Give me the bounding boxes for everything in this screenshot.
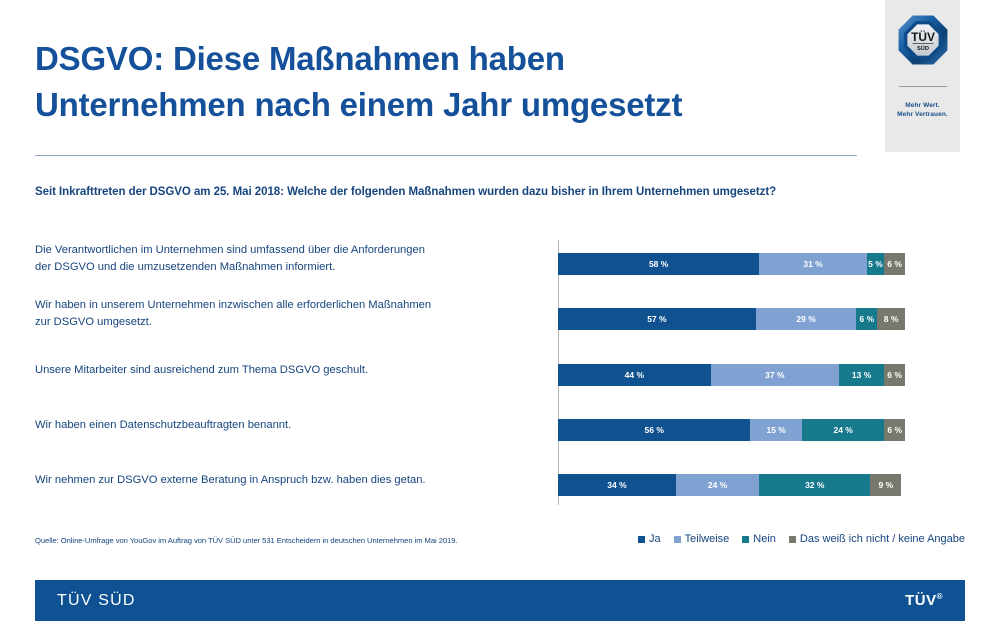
bar-segment-value: 15 % [766,425,785,435]
bar-segment: 15 % [750,419,802,441]
logo-claim-line2: Mehr Vertrauen. [897,110,948,119]
title-divider [35,155,857,156]
stacked-bar: 44 %37 %13 %6 % [558,364,905,386]
chart-legend: JaTeilweiseNeinDas weiß ich nicht / kein… [638,533,965,545]
bar-segment: 31 % [759,253,867,275]
legend-swatch-icon [638,536,645,543]
bar-segment-value: 24 % [833,425,852,435]
bar-segment-value: 6 % [859,314,874,324]
bar-segment-value: 44 % [625,370,644,380]
logo-claim: Mehr Wert. Mehr Vertrauen. [897,101,948,120]
chart-row: Wir haben einen Datenschutzbeauftragten … [35,417,910,463]
legend-item[interactable]: Das weiß ich nicht / keine Angabe [789,533,965,545]
bar-segment-value: 58 % [649,259,668,269]
legend-swatch-icon [789,536,796,543]
chart-row-label: Die Verantwortlichen im Unternehmen sind… [35,242,535,277]
legend-swatch-icon [742,536,749,543]
footer-bar: TÜV SÜD TÜV® [35,580,965,621]
footer-tuv-mark: TÜV® [905,592,943,609]
bar-segment: 56 % [558,419,750,441]
chart-row-label-line1: Wir nehmen zur DSGVO externe Beratung in… [35,472,535,489]
bar-segment: 37 % [711,364,839,386]
stacked-bar-chart: Die Verantwortlichen im Unternehmen sind… [35,240,910,510]
bar-segment-value: 56 % [645,425,664,435]
bar-segment-value: 9 % [879,480,894,490]
chart-row: Die Verantwortlichen im Unternehmen sind… [35,246,910,292]
stacked-bar: 58 %31 %5 %6 % [558,253,905,275]
bar-segment: 58 % [558,253,759,275]
bar-segment-value: 8 % [884,314,899,324]
chart-row-label: Wir haben in unserem Unternehmen inzwisc… [35,297,535,332]
bar-segment: 6 % [884,253,905,275]
bar-segment: 44 % [558,364,711,386]
bar-segment-value: 29 % [796,314,815,324]
bar-segment-value: 6 % [887,259,902,269]
legend-item[interactable]: Ja [638,533,661,545]
chart-row-label-line1: Unsere Mitarbeiter sind ausreichend zum … [35,362,535,379]
survey-question: Seit Inkrafttreten der DSGVO am 25. Mai … [35,186,970,198]
bar-segment: 5 % [867,253,884,275]
bar-segment-value: 37 % [765,370,784,380]
logo-claim-line1: Mehr Wert. [897,101,948,110]
bar-segment: 24 % [676,474,759,496]
bar-segment: 6 % [884,419,905,441]
chart-row-label: Unsere Mitarbeiter sind ausreichend zum … [35,362,535,379]
logo-badge-top-text: TÜV [911,29,935,44]
bar-segment: 29 % [756,308,857,330]
chart-row: Wir haben in unserem Unternehmen inzwisc… [35,301,910,347]
stacked-bar: 34 %24 %32 %9 % [558,474,905,496]
bar-segment: 6 % [884,364,905,386]
bar-segment-value: 13 % [852,370,871,380]
legend-item[interactable]: Nein [742,533,776,545]
chart-row: Wir nehmen zur DSGVO externe Beratung in… [35,472,910,518]
legend-label: Ja [649,533,661,545]
page-title-line1: DSGVO: Diese Maßnahmen haben [35,36,865,82]
legend-swatch-icon [674,536,681,543]
chart-row: Unsere Mitarbeiter sind ausreichend zum … [35,362,910,408]
chart-row-label-line1: Wir haben einen Datenschutzbeauftragten … [35,417,535,434]
bar-segment-value: 24 % [708,480,727,490]
bar-segment: 13 % [839,364,884,386]
page-title: DSGVO: Diese Maßnahmen haben Unternehmen… [35,36,865,127]
footer-tuv-mark-text: TÜV [905,592,937,609]
bar-segment-value: 5 % [868,259,883,269]
bar-segment: 34 % [558,474,676,496]
chart-row-label-line2: der DSGVO und die umzusetzenden Maßnahme… [35,259,535,276]
bar-segment: 8 % [877,308,905,330]
bar-segment-value: 31 % [803,259,822,269]
footer-brand: TÜV SÜD [57,592,136,610]
tuv-sud-logo-icon: TÜV SÜD [897,14,949,66]
bar-segment: 57 % [558,308,756,330]
bar-segment-value: 34 % [607,480,626,490]
bar-segment: 9 % [870,474,901,496]
chart-source-note: Quelle: Online-Umfrage von YouGov im Auf… [35,536,457,545]
bar-segment-value: 57 % [647,314,666,324]
page-title-line2: Unternehmen nach einem Jahr umgesetzt [35,82,865,128]
stacked-bar: 56 %15 %24 %6 % [558,419,905,441]
bar-segment: 6 % [856,308,877,330]
legend-item[interactable]: Teilweise [674,533,730,545]
chart-row-label-line2: zur DSGVO umgesetzt. [35,314,535,331]
logo-panel: TÜV SÜD Mehr Wert. Mehr Vertrauen. [885,0,960,152]
stacked-bar: 57 %29 %6 %8 % [558,308,905,330]
chart-row-label: Wir nehmen zur DSGVO externe Beratung in… [35,472,535,489]
legend-label: Nein [753,533,776,545]
bar-segment: 32 % [759,474,870,496]
bar-segment: 24 % [802,419,884,441]
bar-segment-value: 6 % [887,425,902,435]
logo-divider [899,86,947,87]
bar-segment-value: 6 % [887,370,902,380]
chart-row-label-line1: Wir haben in unserem Unternehmen inzwisc… [35,297,535,314]
legend-label: Teilweise [685,533,730,545]
footer-registered-icon: ® [937,592,943,601]
chart-row-label-line1: Die Verantwortlichen im Unternehmen sind… [35,242,535,259]
logo-badge-bottom-text: SÜD [916,45,928,52]
legend-label: Das weiß ich nicht / keine Angabe [800,533,965,545]
bar-segment-value: 32 % [805,480,824,490]
chart-row-label: Wir haben einen Datenschutzbeauftragten … [35,417,535,434]
